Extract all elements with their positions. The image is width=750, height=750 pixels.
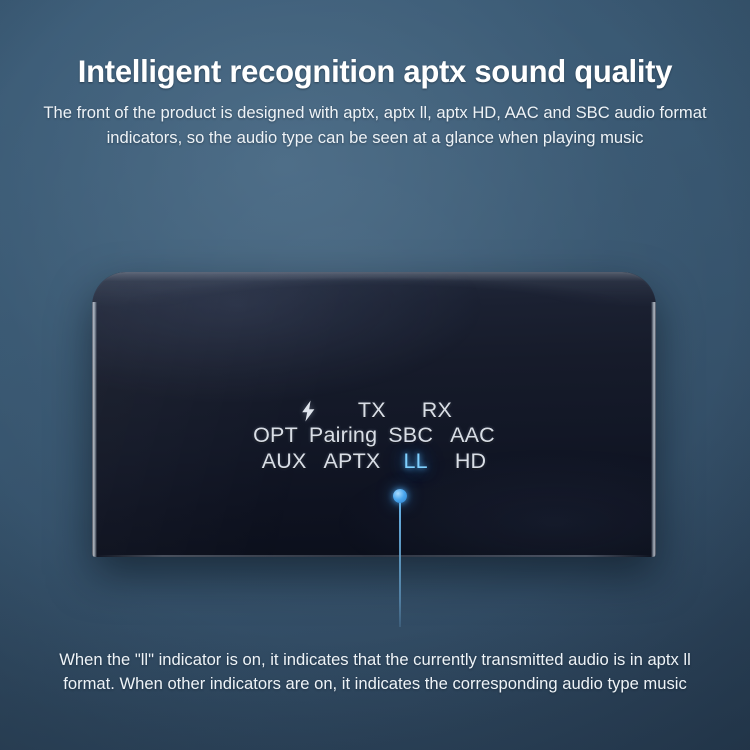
indicator-aptx: APTX: [324, 451, 381, 473]
indicator-row-3: AUX APTX LL HD: [92, 451, 656, 473]
indicator-sbc: SBC: [388, 425, 433, 447]
device-bottom-edge-highlight: [96, 555, 652, 557]
indicator-panel: TX RX OPT Pairing SBC AAC AUX APTX LL HD: [92, 398, 656, 472]
device-top-edge-highlight: [92, 272, 656, 308]
device-body: TX RX OPT Pairing SBC AAC AUX APTX LL HD: [92, 272, 656, 557]
indicator-ll-active: LL: [397, 451, 431, 473]
indicator-hd: HD: [449, 451, 486, 473]
indicator-aac: AAC: [444, 425, 495, 447]
product-feature-slide: Intelligent recognition aptx sound quali…: [0, 0, 750, 750]
indicator-tx: TX: [358, 400, 386, 422]
indicator-row-2: OPT Pairing SBC AAC: [92, 425, 656, 447]
indicator-opt: OPT: [253, 425, 298, 447]
indicator-row-1: TX RX: [92, 398, 656, 424]
device-image: TX RX OPT Pairing SBC AAC AUX APTX LL HD: [92, 272, 656, 557]
indicator-pairing: Pairing: [309, 425, 377, 447]
callout-dot-marker: [393, 489, 407, 503]
lightning-bolt-icon: [301, 400, 316, 422]
header-block: Intelligent recognition aptx sound quali…: [0, 54, 750, 150]
page-title: Intelligent recognition aptx sound quali…: [6, 54, 745, 89]
indicator-aux: AUX: [262, 451, 307, 473]
indicator-rx: RX: [422, 400, 452, 422]
power-indicator: [296, 400, 322, 422]
footer-block: When the "ll" indicator is on, it indica…: [0, 648, 750, 696]
callout-leader-line: [399, 500, 401, 627]
callout-caption: When the "ll" indicator is on, it indica…: [39, 648, 711, 696]
page-subtitle: The front of the product is designed wit…: [39, 101, 711, 150]
